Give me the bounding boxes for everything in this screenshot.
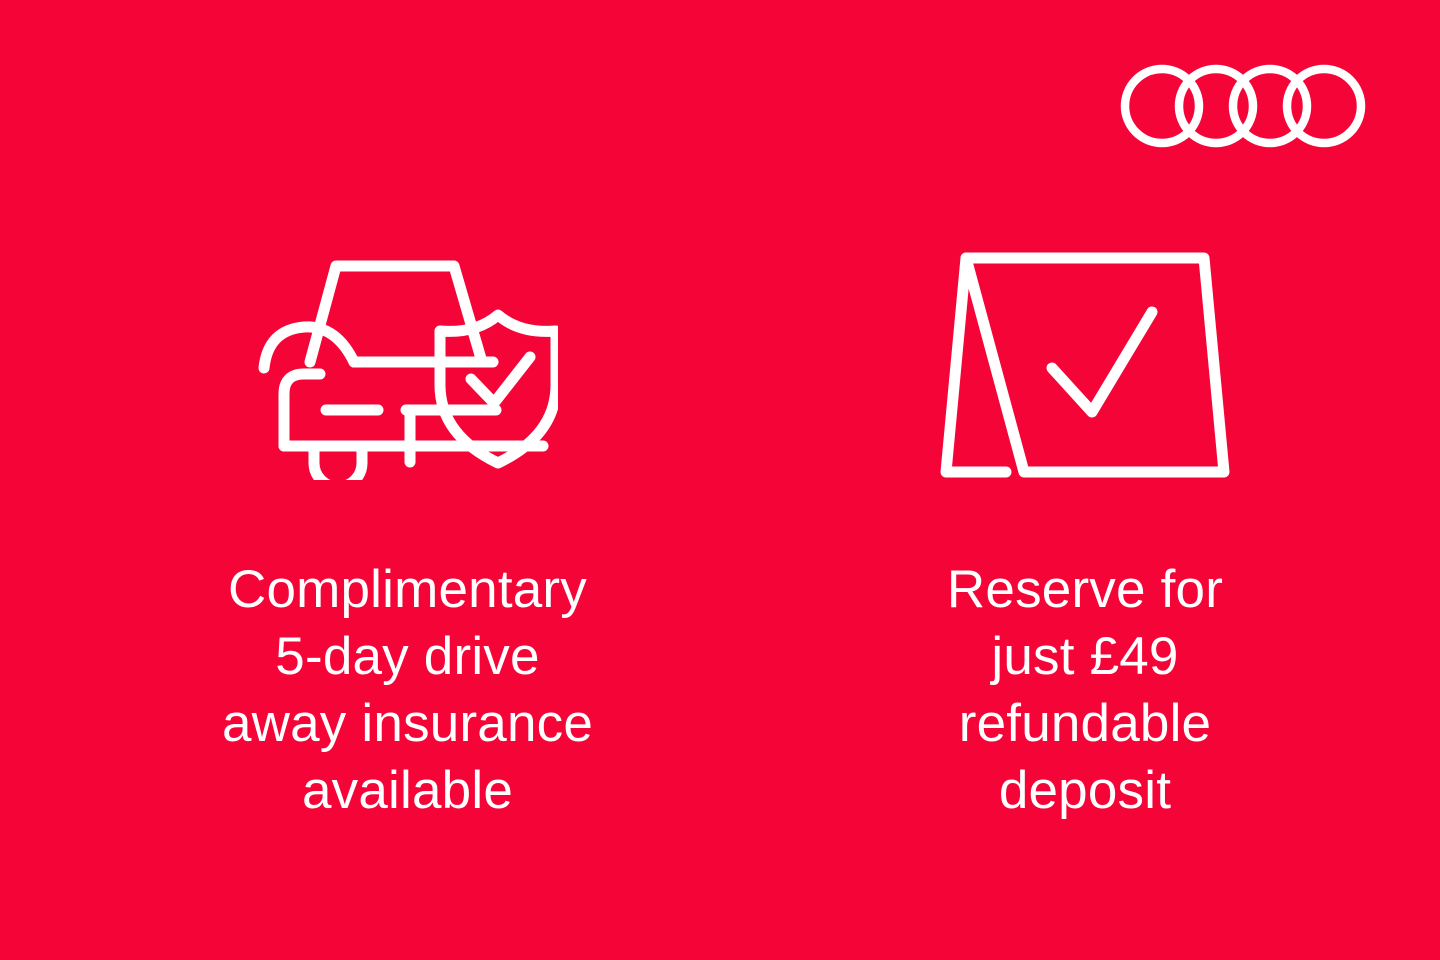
- tent-card-check-icon: [940, 250, 1230, 480]
- feature-insurance-caption: Complimentary 5-day drive away insurance…: [222, 556, 593, 824]
- car-shield-icon-wrap: [258, 240, 558, 490]
- feature-deposit-caption: Reserve for just £49 refundable deposit: [947, 556, 1223, 824]
- audi-four-rings-icon: [1120, 60, 1368, 152]
- car-shield-icon: [258, 250, 558, 480]
- feature-deposit: Reserve for just £49 refundable deposit: [790, 240, 1380, 824]
- feature-insurance: Complimentary 5-day drive away insurance…: [85, 240, 730, 824]
- tent-card-check-icon-wrap: [940, 240, 1230, 490]
- promo-banner: Complimentary 5-day drive away insurance…: [0, 0, 1440, 960]
